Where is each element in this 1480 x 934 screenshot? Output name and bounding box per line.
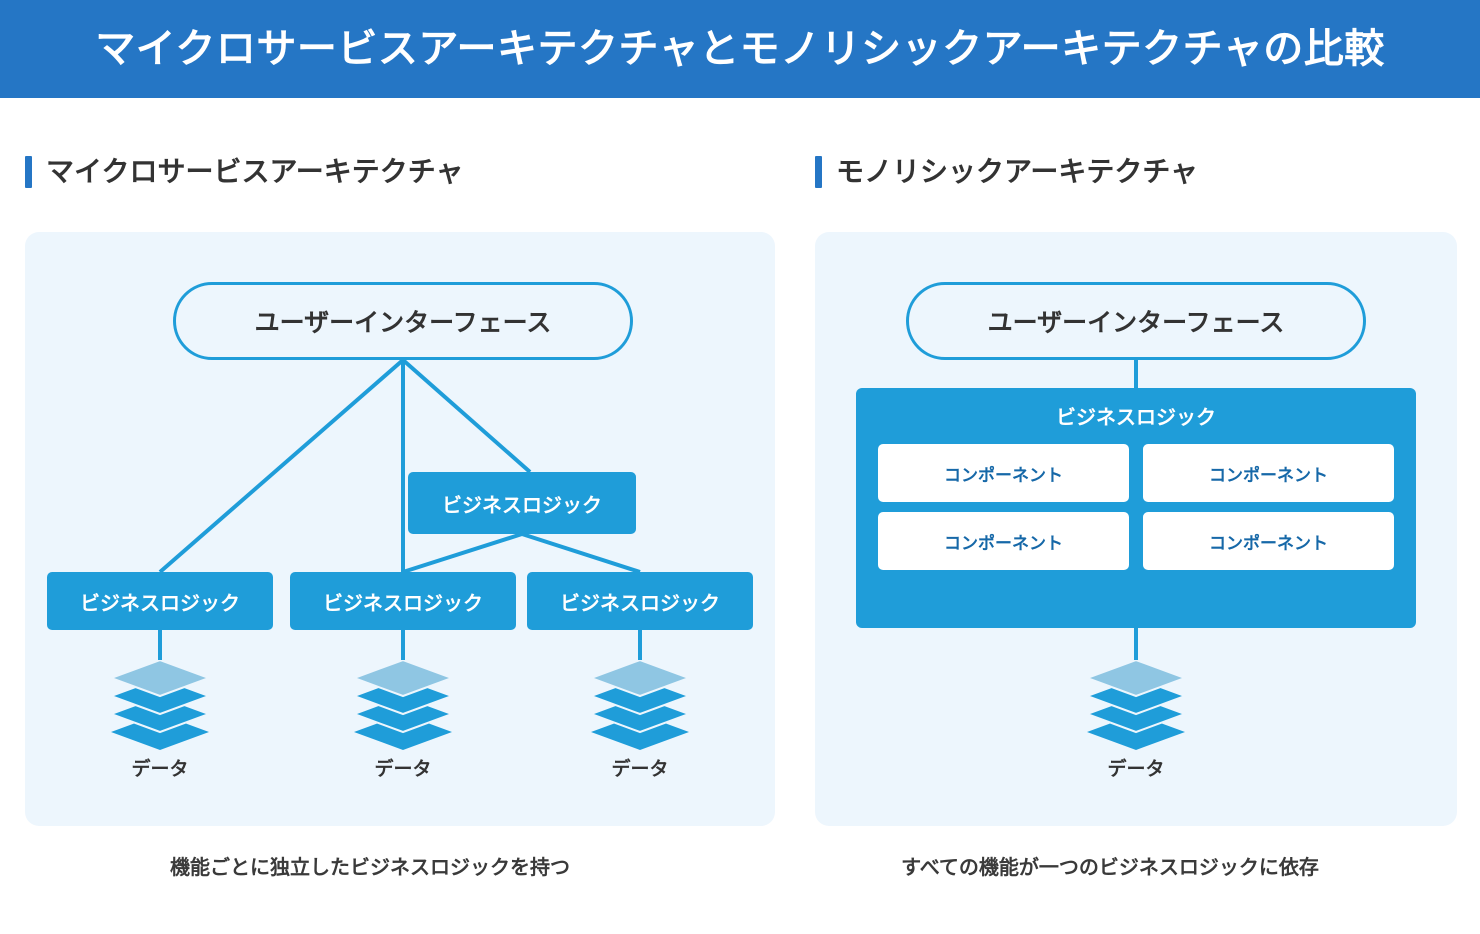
monolithic-column: モノリシックアーキテクチャ ユーザーインターフェース ビジネスロジック コンポー…	[740, 98, 1480, 934]
monolithic-user-interface-label: ユーザーインターフェース	[988, 303, 1285, 339]
microservices-user-interface-node[interactable]: ユーザーインターフェース	[173, 282, 633, 360]
monolithic-user-interface-node[interactable]: ユーザーインターフェース	[906, 282, 1366, 360]
microservices-data-group-2: データ	[348, 660, 458, 779]
microservices-data-label-3: データ	[611, 760, 668, 779]
microservices-business-logic-node-2[interactable]: ビジネスロジック	[290, 572, 516, 630]
microservices-data-group-3: データ	[585, 660, 695, 779]
microservices-business-logic-node-3[interactable]: ビジネスロジック	[527, 572, 753, 630]
monolithic-business-logic-container[interactable]: ビジネスロジック コンポーネント コンポーネント コンポーネント コンポーネント	[856, 388, 1416, 628]
microservices-business-logic-label-3: ビジネスロジック	[560, 587, 720, 616]
page-title: マイクロサービスアーキテクチャとモノリシックアーキテクチャの比較	[95, 29, 1385, 69]
section-header-monolithic: モノリシックアーキテクチャ	[815, 156, 1198, 188]
section-title-monolithic: モノリシックアーキテクチャ	[836, 158, 1198, 186]
monolithic-component-label-4: コンポーネント	[1209, 529, 1328, 554]
monolithic-component-1[interactable]: コンポーネント	[878, 444, 1129, 502]
microservices-mid-business-logic-label: ビジネスロジック	[442, 489, 602, 518]
page-header: マイクロサービスアーキテクチャとモノリシックアーキテクチャの比較	[0, 0, 1480, 98]
monolithic-component-grid: コンポーネント コンポーネント コンポーネント コンポーネント	[878, 444, 1394, 570]
monolithic-business-logic-title: ビジネスロジック	[1056, 408, 1216, 428]
microservices-data-group-1: データ	[105, 660, 215, 779]
monolithic-diagram-panel: ユーザーインターフェース ビジネスロジック コンポーネント コンポーネント コン…	[815, 232, 1457, 826]
microservices-data-label-1: データ	[131, 760, 188, 779]
monolithic-data-group: データ	[1081, 660, 1191, 779]
microservices-business-logic-label-1: ビジネスロジック	[80, 587, 240, 616]
monolithic-component-label-3: コンポーネント	[944, 529, 1063, 554]
microservices-mid-business-logic-node[interactable]: ビジネスロジック	[408, 472, 636, 534]
microservices-business-logic-label-2: ビジネスロジック	[323, 587, 483, 616]
monolithic-component-label-1: コンポーネント	[944, 461, 1063, 486]
data-stack-icon	[1081, 660, 1191, 752]
microservices-diagram-panel: ユーザーインターフェース ビジネスロジック ビジネスロジック ビジネスロジック …	[25, 232, 775, 826]
monolithic-component-2[interactable]: コンポーネント	[1143, 444, 1394, 502]
monolithic-caption: すべての機能が一つのビジネスロジックに依存	[740, 858, 1480, 878]
section-title-microservices: マイクロサービスアーキテクチャ	[46, 158, 463, 186]
monolithic-data-label: データ	[1107, 760, 1164, 779]
microservices-data-label-2: データ	[374, 760, 431, 779]
microservices-column: マイクロサービスアーキテクチャ ユーザーインターフェース ビジネスロジック ビ	[0, 98, 740, 934]
data-stack-icon	[585, 660, 695, 752]
monolithic-component-4[interactable]: コンポーネント	[1143, 512, 1394, 570]
section-header-microservices: マイクロサービスアーキテクチャ	[25, 156, 463, 188]
microservices-user-interface-label: ユーザーインターフェース	[255, 303, 552, 339]
data-stack-icon	[348, 660, 458, 752]
microservices-caption: 機能ごとに独立したビジネスロジックを持つ	[0, 858, 740, 878]
microservices-business-logic-node-1[interactable]: ビジネスロジック	[47, 572, 273, 630]
monolithic-component-label-2: コンポーネント	[1209, 461, 1328, 486]
section-accent-bar	[25, 156, 32, 188]
data-stack-icon	[105, 660, 215, 752]
monolithic-component-3[interactable]: コンポーネント	[878, 512, 1129, 570]
section-accent-bar	[815, 156, 822, 188]
